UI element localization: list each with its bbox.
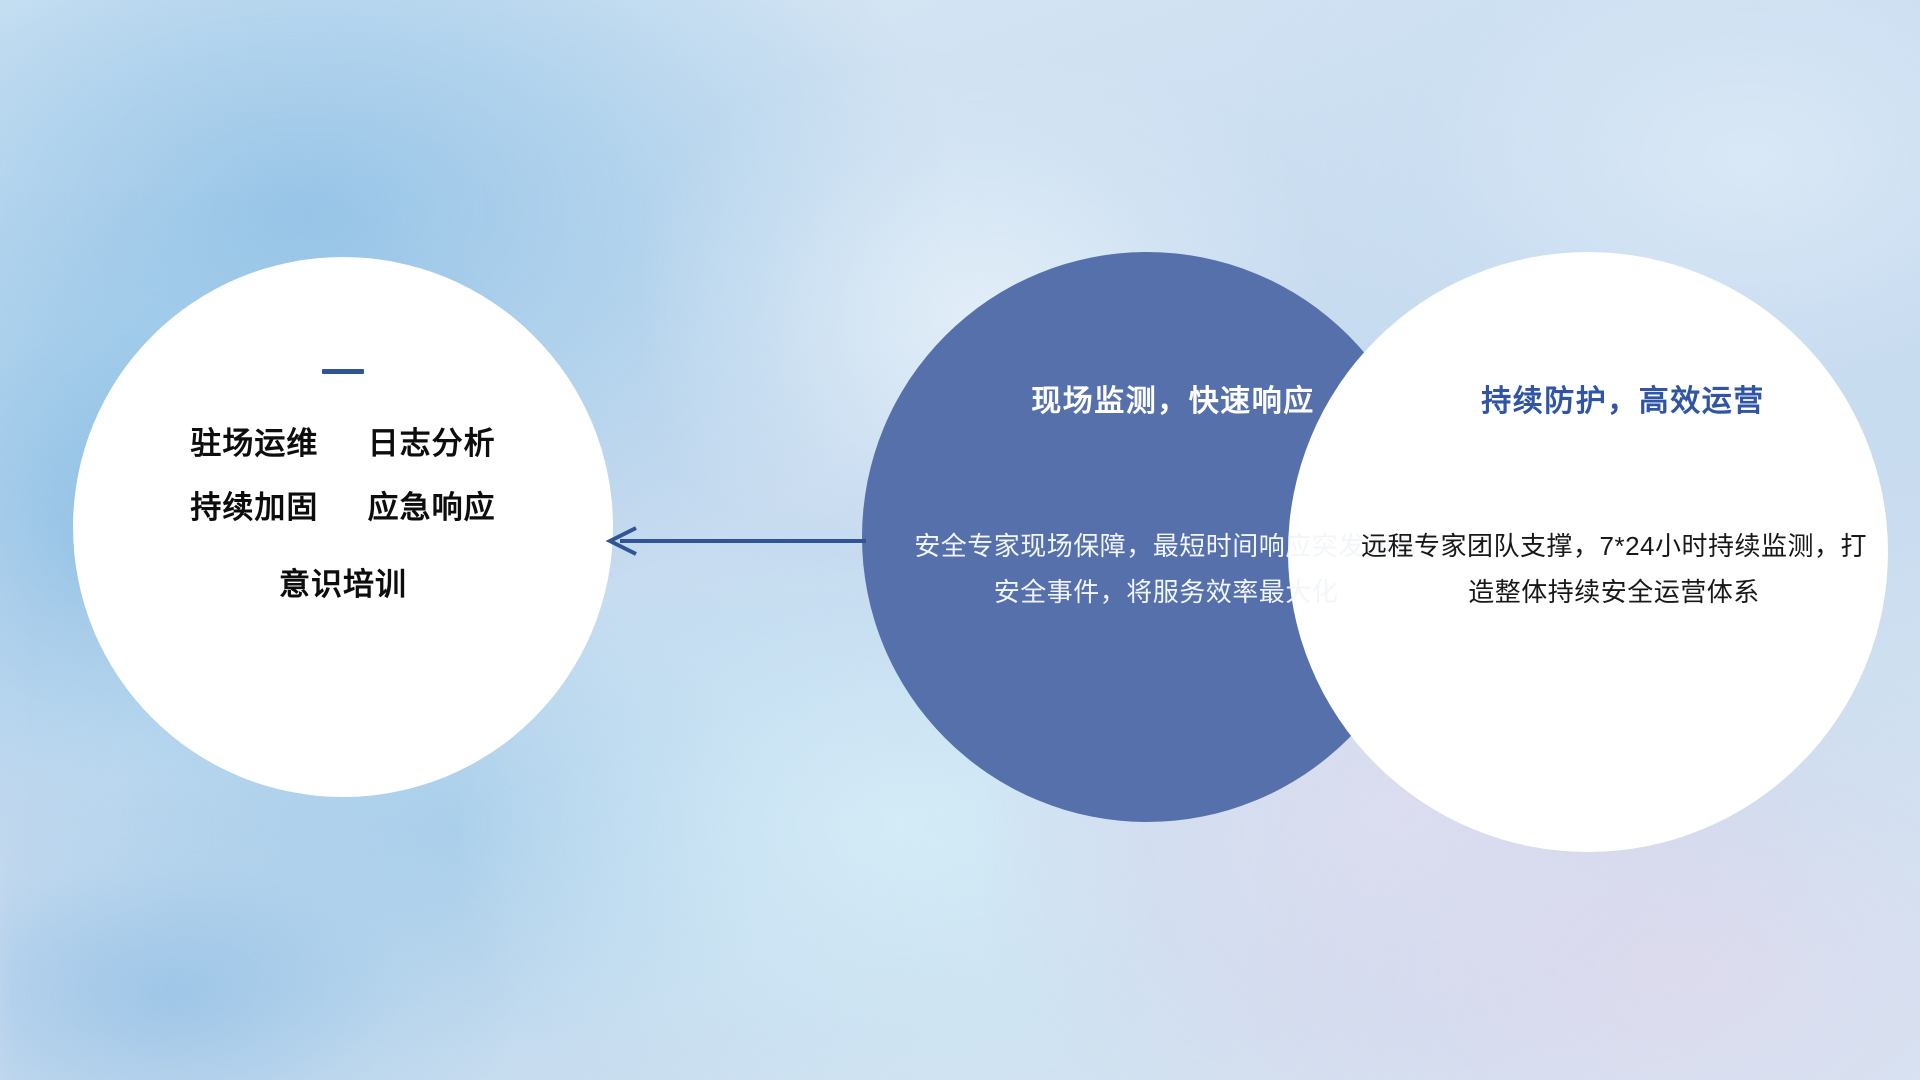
continuous-protection-title: 持续防护，高效运营 [1288,376,1888,420]
capability-row-1: 驻场运维 日志分析 [190,426,495,462]
capability-label-yishipeixun: 意识培训 [279,567,407,602]
accent-divider [322,369,364,374]
capability-row-2: 持续加固 应急响应 [190,490,495,526]
flow-arrow-left [600,524,870,558]
capability-label-zhuchangyunwei: 驻场运维 [190,426,318,461]
capability-label-chixujiagu: 持续加固 [190,490,318,525]
continuous-protection-body: 远程专家团队支撑，7*24小时持续监测，打造整体持续安全运营体系 [1288,524,1888,615]
continuous-protection-content: 持续防护，高效运营 远程专家团队支撑，7*24小时持续监测，打造整体持续安全运营… [1288,252,1888,852]
capability-label-rizhifenxi: 日志分析 [368,426,496,461]
capability-row-3: 意识培训 [279,567,407,603]
background-blob-9 [0,799,499,1080]
capabilities-content: 驻场运维 日志分析 持续加固 应急响应 意识培训 [73,257,613,797]
capability-label-yingjixiangying: 应急响应 [368,490,496,525]
